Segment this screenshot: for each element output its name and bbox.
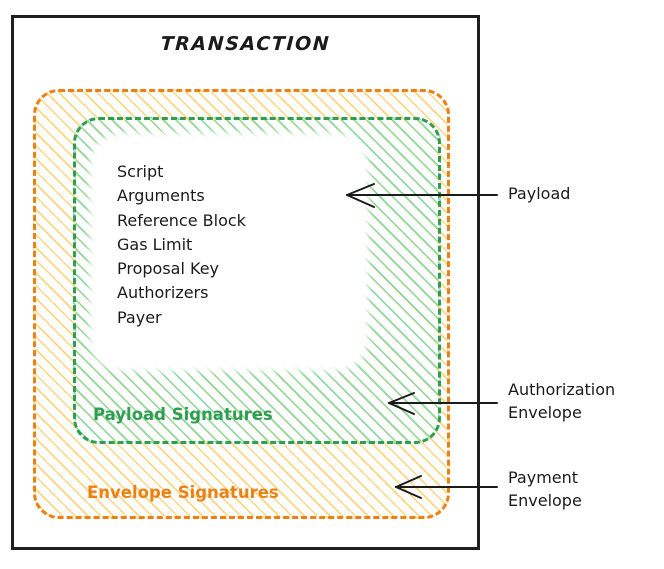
envelope-signatures-label: Envelope Signatures	[87, 483, 279, 502]
payload-field: Authorizers	[117, 281, 357, 305]
diagram-canvas: TRANSACTION Script Arguments Reference B…	[0, 0, 664, 569]
annotation-payload: Payload	[508, 182, 570, 205]
payload-field: Payer	[117, 306, 357, 330]
annotation-authorization-envelope: Authorization Envelope	[508, 378, 615, 424]
annotation-payload-line1: Payload	[508, 182, 570, 205]
payload-field: Script	[117, 160, 357, 184]
payload-field: Gas Limit	[117, 233, 357, 257]
annotation-payment-line1: Payment	[508, 466, 582, 489]
annotation-authorization-line1: Authorization	[508, 378, 615, 401]
page-title: TRANSACTION	[10, 33, 480, 55]
payload-field: Proposal Key	[117, 257, 357, 281]
payload-field: Reference Block	[117, 209, 357, 233]
annotation-authorization-line2: Envelope	[508, 401, 615, 424]
payload-signatures-label: Payload Signatures	[93, 405, 273, 424]
payload-field-list: Script Arguments Reference Block Gas Lim…	[117, 160, 357, 330]
payload-field: Arguments	[117, 184, 357, 208]
annotation-payment-envelope: Payment Envelope	[508, 466, 582, 512]
annotation-payment-line2: Envelope	[508, 489, 582, 512]
